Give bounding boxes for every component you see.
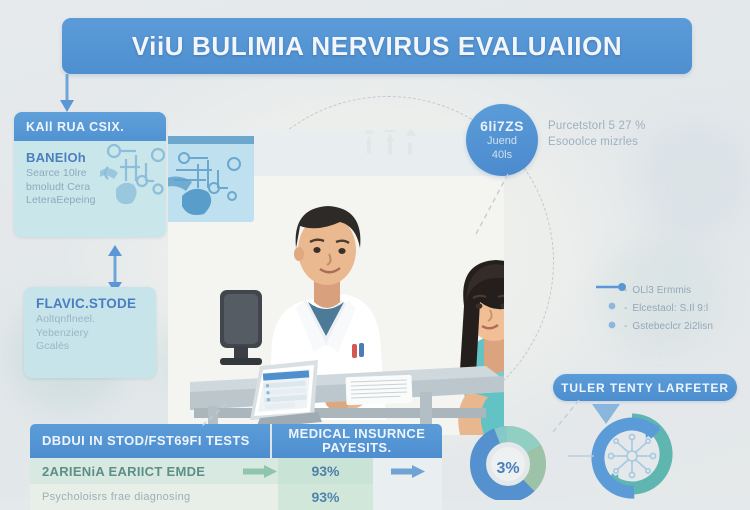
title-banner: ViiU BULIMIA NERVIRUS EVALUAIION [62,18,692,74]
bullet-dash-icon: - [624,302,627,315]
table-column-header: DBDUI IN STOD/FST69FI TESTS [30,424,270,458]
doctor-patient-consultation-illustration [168,130,504,435]
cycle-diagram [568,412,698,500]
results-table: DBDUI IN STOD/FST69FI TESTS MEDICAL INSU… [30,424,442,510]
table-header-row: DBDUI IN STOD/FST69FI TESTS MEDICAL INSU… [30,424,442,458]
infographic-canvas: ViiU BULIMIA NERVIRUS EVALUAIION KAll RU… [0,0,750,500]
pill-button-label: TULER TENTY LARFETER [561,381,729,395]
stat-bubble-caption: 40ls [492,148,512,162]
bullet-label: OLl3 Ermmis [632,284,691,297]
list-item[interactable]: - OLl3 Ermmis [624,284,750,297]
info-card-left-1[interactable]: KAll RUA CSIX. BANElOh Searce [14,112,166,237]
card-line: Aoltqnflneel. [24,313,156,327]
donut-chart: 3% [466,424,550,500]
bullet-label: Gstebeclcr 2i2lisn [632,320,713,333]
table-cell-value: 93% [278,458,373,484]
bullet-list: - OLl3 Ermmis - Elcestaol: S.Il 9:l - Gs… [624,284,750,338]
list-item[interactable]: - Gstebeclcr 2i2lisn [624,320,750,333]
stat-bubble-value: 6li7ZS [480,119,524,134]
list-item[interactable]: - Elcestaol: S.Il 9:l [624,302,750,315]
stat-bubble-side-caption: Purcetstorl 5 27 % Esooolce mizrles [548,118,738,150]
table-cell-label: 2ARIENiA EARIICT EMDE [30,464,242,479]
table-cell-label: Psycholoisrs frae diagnosing [30,491,242,503]
arrow-right-icon [243,465,277,478]
page-title: ViiU BULIMIA NERVIRUS EVALUAIION [132,31,623,62]
bullet-dash-icon: - [624,320,627,333]
bullet-label: Elcestaol: S.Il 9:l [632,302,708,315]
stat-bubble[interactable]: 6li7ZS Juend 40ls [466,104,538,176]
table-column-header: MEDICAL INSURNCE PAYESITS. [270,424,442,458]
info-card-left-2[interactable]: FLAVIC.STODE Aoltqnflneel. Yebenziery Gc… [24,287,156,378]
row-arrow-left [242,465,278,478]
card-header-label: KAll RUA CSIX. [26,120,124,134]
arrow-right-icon [391,465,425,478]
donut-value-label: 3% [466,424,550,500]
card-title: FLAVIC.STODE [24,296,156,311]
table-cell-value: 93% [278,484,373,510]
bullet-dash-icon: - [624,284,627,297]
row-arrow-right [373,458,442,484]
caption-line: Esooolce mizrles [548,134,738,150]
card-line: Gcalès [24,340,156,354]
table-row[interactable]: 2ARIENiA EARIICT EMDE 93% [30,458,442,484]
card-line: Yebenziery [24,327,156,341]
caption-line: Purcetstorl 5 27 % [548,118,738,134]
table-row[interactable]: Psycholoisrs frae diagnosing 93% [30,484,442,510]
connector-title-to-card1 [54,74,80,116]
row-arrow-right [373,484,442,510]
stat-bubble-subtitle: Juend [487,134,517,148]
card-body: BANElOh Searce 10lre bmoludt Cera Letera… [14,141,166,208]
tulet-tenty-larfeter-button[interactable]: TULER TENTY LARFETER [553,374,737,401]
medical-tech-icon [96,137,166,213]
